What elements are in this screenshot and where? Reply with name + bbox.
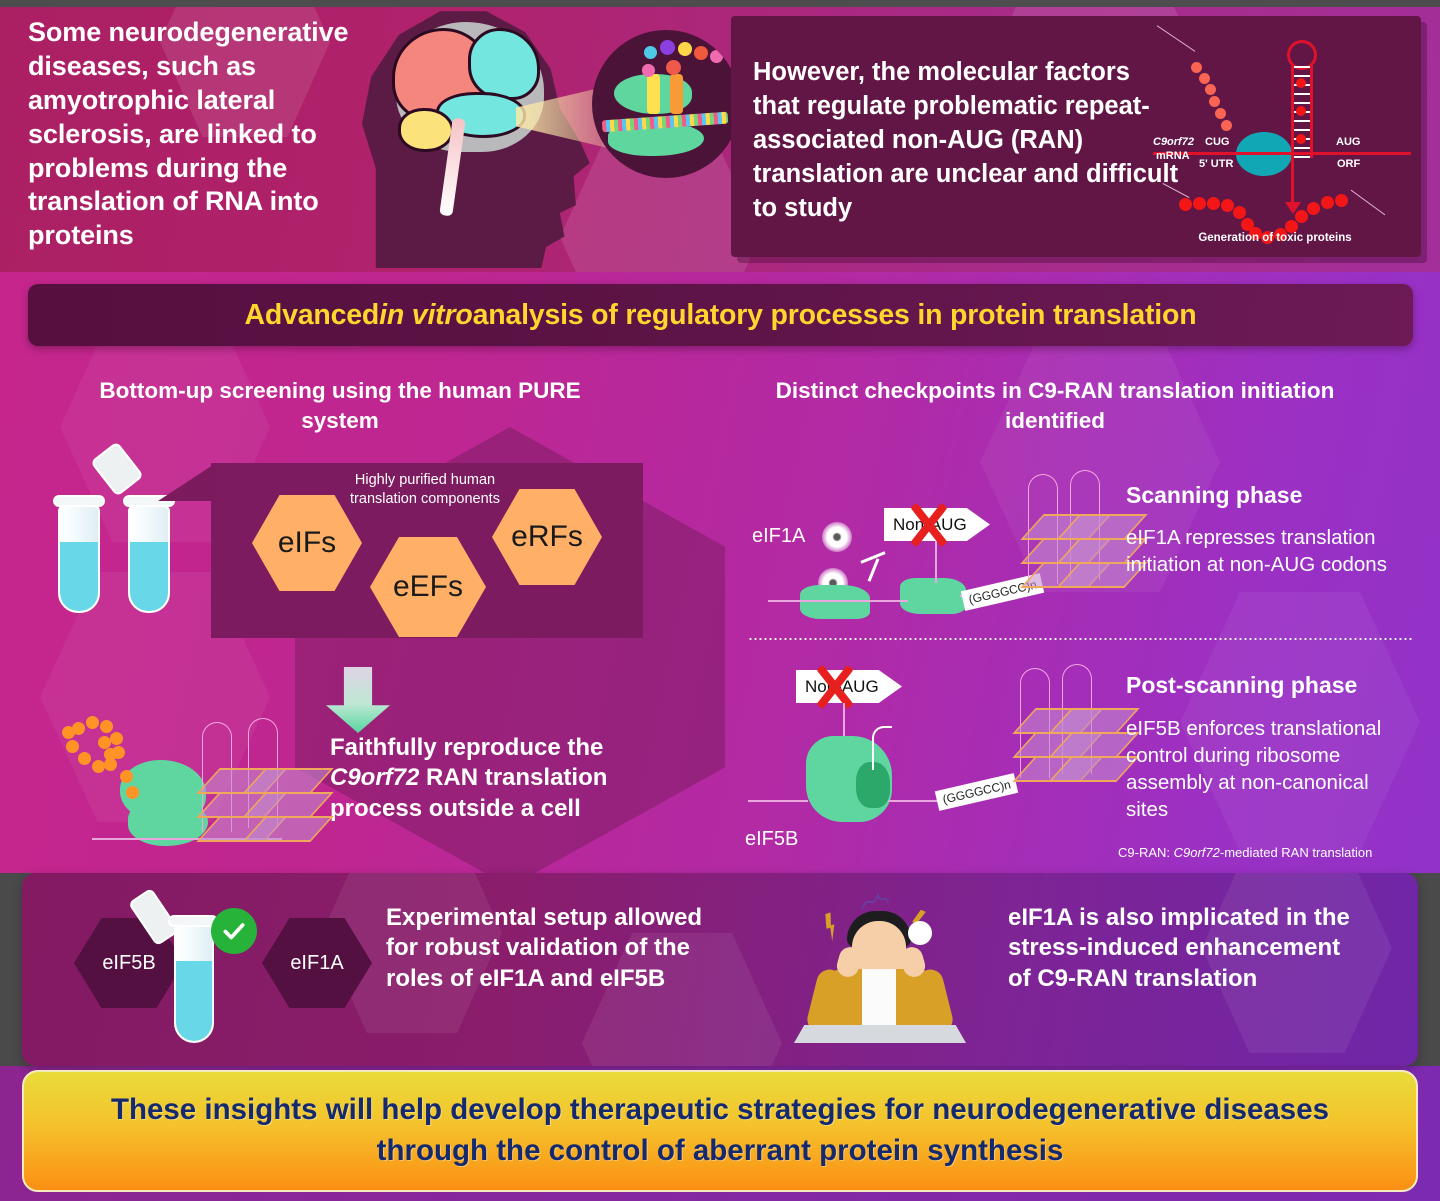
mrna-tail <box>1157 25 1196 52</box>
brain-cerebellum <box>398 108 454 152</box>
post-scanning-phase-body: eIF5B enforces translational control dur… <box>1126 716 1416 823</box>
cug-label: CUG <box>1205 136 1229 148</box>
peptide-bead <box>1205 84 1216 95</box>
desk-surface <box>794 1025 966 1043</box>
title-suffix: analysis of regulatory processes in prot… <box>473 299 1197 332</box>
pure-caption: Highly purified human translation compon… <box>330 471 520 509</box>
tube-liquid <box>130 542 168 611</box>
toxic-protein-tail <box>1351 190 1386 215</box>
scanning-ribosome <box>800 585 870 619</box>
toxic-bead <box>1307 202 1320 215</box>
repeat-marker <box>1296 106 1306 116</box>
g-quadruplex-structure <box>1016 668 1126 796</box>
conclusion-banner: These insights will help develop therape… <box>22 1070 1418 1192</box>
right-column-heading: Distinct checkpoints in C9-RAN translati… <box>760 376 1350 435</box>
aug-label: AUG <box>1336 136 1360 148</box>
orf-label: ORF <box>1337 158 1360 170</box>
toxic-bead <box>1207 197 1220 210</box>
stalled-ribosome <box>900 578 966 614</box>
stress-statement: eIF1A is also implicated in the stress-i… <box>1008 903 1368 994</box>
reproduce-line2: RAN translation <box>419 764 607 791</box>
recruitment-hook <box>872 726 892 770</box>
molecular-factors-text: However, the molecular factors that regu… <box>753 56 1183 226</box>
reproduce-line3: process outside a cell <box>330 795 581 822</box>
peptide-bead <box>1215 108 1226 119</box>
molecular-factors-card: However, the molecular factors that regu… <box>731 16 1421 257</box>
left-column-heading: Bottom-up screening using the human PURE… <box>60 376 620 435</box>
conclusion-text: These insights will help develop therape… <box>24 1090 1416 1171</box>
eif5b-label: eIF5B <box>745 828 798 851</box>
mrna-line <box>768 600 908 602</box>
peptide-bead <box>1199 73 1210 84</box>
trna-head <box>642 64 655 77</box>
brain-head-illustration <box>340 6 740 268</box>
trna-stem <box>647 74 660 114</box>
toxic-bead <box>1193 197 1206 210</box>
tube-liquid <box>60 542 98 611</box>
aminoacid-dot <box>660 40 675 55</box>
section-divider <box>748 638 1414 640</box>
toxic-bead <box>1335 194 1348 207</box>
scanning-phase-body: eIF1A represses translation initiation a… <box>1126 525 1416 579</box>
toxic-bead <box>1179 198 1192 211</box>
gene-label: C9orf72 <box>1153 136 1194 148</box>
abbreviation-footnote: C9-RAN: C9orf72-mediated RAN translation <box>1118 845 1372 860</box>
title-italic: in vitro <box>379 299 472 332</box>
peptide-bead <box>126 786 139 799</box>
thought-bubble-icon <box>908 921 932 945</box>
validation-statement: Experimental setup allowed for robust va… <box>386 903 706 994</box>
stressed-person-illustration <box>790 885 970 1065</box>
peptide-bead <box>92 760 105 773</box>
post-scanning-phase-title: Post-scanning phase <box>1126 672 1357 699</box>
title-prefix: Advanced <box>245 299 380 332</box>
stress-scribble-icon <box>860 891 890 913</box>
peptide-bead <box>66 740 79 753</box>
toxic-bead <box>1221 199 1234 212</box>
blocked-x-icon <box>806 662 864 712</box>
ran-translation-diagram: C9orf72 mRNA CUG 5' UTR AUG ORF Generati… <box>1139 26 1411 254</box>
g-quadruplex-structure <box>1024 474 1134 602</box>
utr-label: 5' UTR <box>1199 158 1233 170</box>
eif1a-particle <box>822 522 852 552</box>
mrna-axis <box>1153 152 1411 155</box>
infographic-root: Some neurodegenerative diseases, such as… <box>0 0 1440 1201</box>
footnote-suffix: -mediated RAN translation <box>1220 845 1372 860</box>
peptide-bead <box>110 732 123 745</box>
downstream-arrow-shaft <box>1291 154 1294 206</box>
inhibition-symbol <box>860 556 890 584</box>
toxic-bead <box>1321 196 1334 209</box>
reproduce-line1: Faithfully reproduce the <box>330 734 603 761</box>
reproduce-gene: C9orf72 <box>330 764 419 791</box>
footnote-prefix: C9-RAN: <box>1118 845 1174 860</box>
stress-bolt-icon <box>822 912 839 941</box>
molecular-zoom-circle <box>592 30 740 178</box>
toxic-bead <box>1295 210 1308 223</box>
person-shirt <box>862 969 896 1031</box>
g-quadruplex-structure <box>196 722 318 850</box>
toxic-protein-tail <box>1163 183 1190 198</box>
badge-connector <box>935 541 937 583</box>
aminoacid-dot <box>694 46 708 60</box>
eif1a-label: eIF1A <box>752 525 805 548</box>
peptide-bead <box>62 726 75 739</box>
section-title-banner: Advanced in vitro analysis of regulatory… <box>28 284 1413 346</box>
aminoacid-dot <box>644 46 657 59</box>
repeat-marker <box>1296 134 1306 144</box>
reproduce-statement: Faithfully reproduce the C9orf72 RAN tra… <box>330 733 660 824</box>
blocked-x-icon <box>900 500 958 550</box>
peptide-bead <box>78 752 91 765</box>
peptide-bead <box>86 716 99 729</box>
peptide-bead <box>104 748 117 761</box>
footnote-gene: C9orf72 <box>1174 845 1220 860</box>
peptide-bead <box>1191 62 1202 73</box>
peptide-bead <box>120 770 133 783</box>
mrna-label: mRNA <box>1156 150 1190 162</box>
trna-stem <box>670 74 683 114</box>
toxic-bead <box>1233 206 1246 219</box>
peptide-bead <box>1221 120 1232 131</box>
peptide-bead <box>1209 96 1220 107</box>
intro-statement: Some neurodegenerative diseases, such as… <box>28 16 383 253</box>
scanning-phase-title: Scanning phase <box>1126 482 1302 509</box>
tube-liquid <box>176 961 212 1041</box>
aminoacid-dot <box>710 50 723 63</box>
toxic-protein-caption: Generation of toxic proteins <box>1139 232 1411 244</box>
trna-head <box>666 60 681 75</box>
peptide-bead <box>100 720 113 733</box>
aminoacid-dot <box>678 42 692 56</box>
check-icon <box>211 908 257 954</box>
mrna-line <box>748 800 808 802</box>
repeat-marker <box>1296 78 1306 88</box>
